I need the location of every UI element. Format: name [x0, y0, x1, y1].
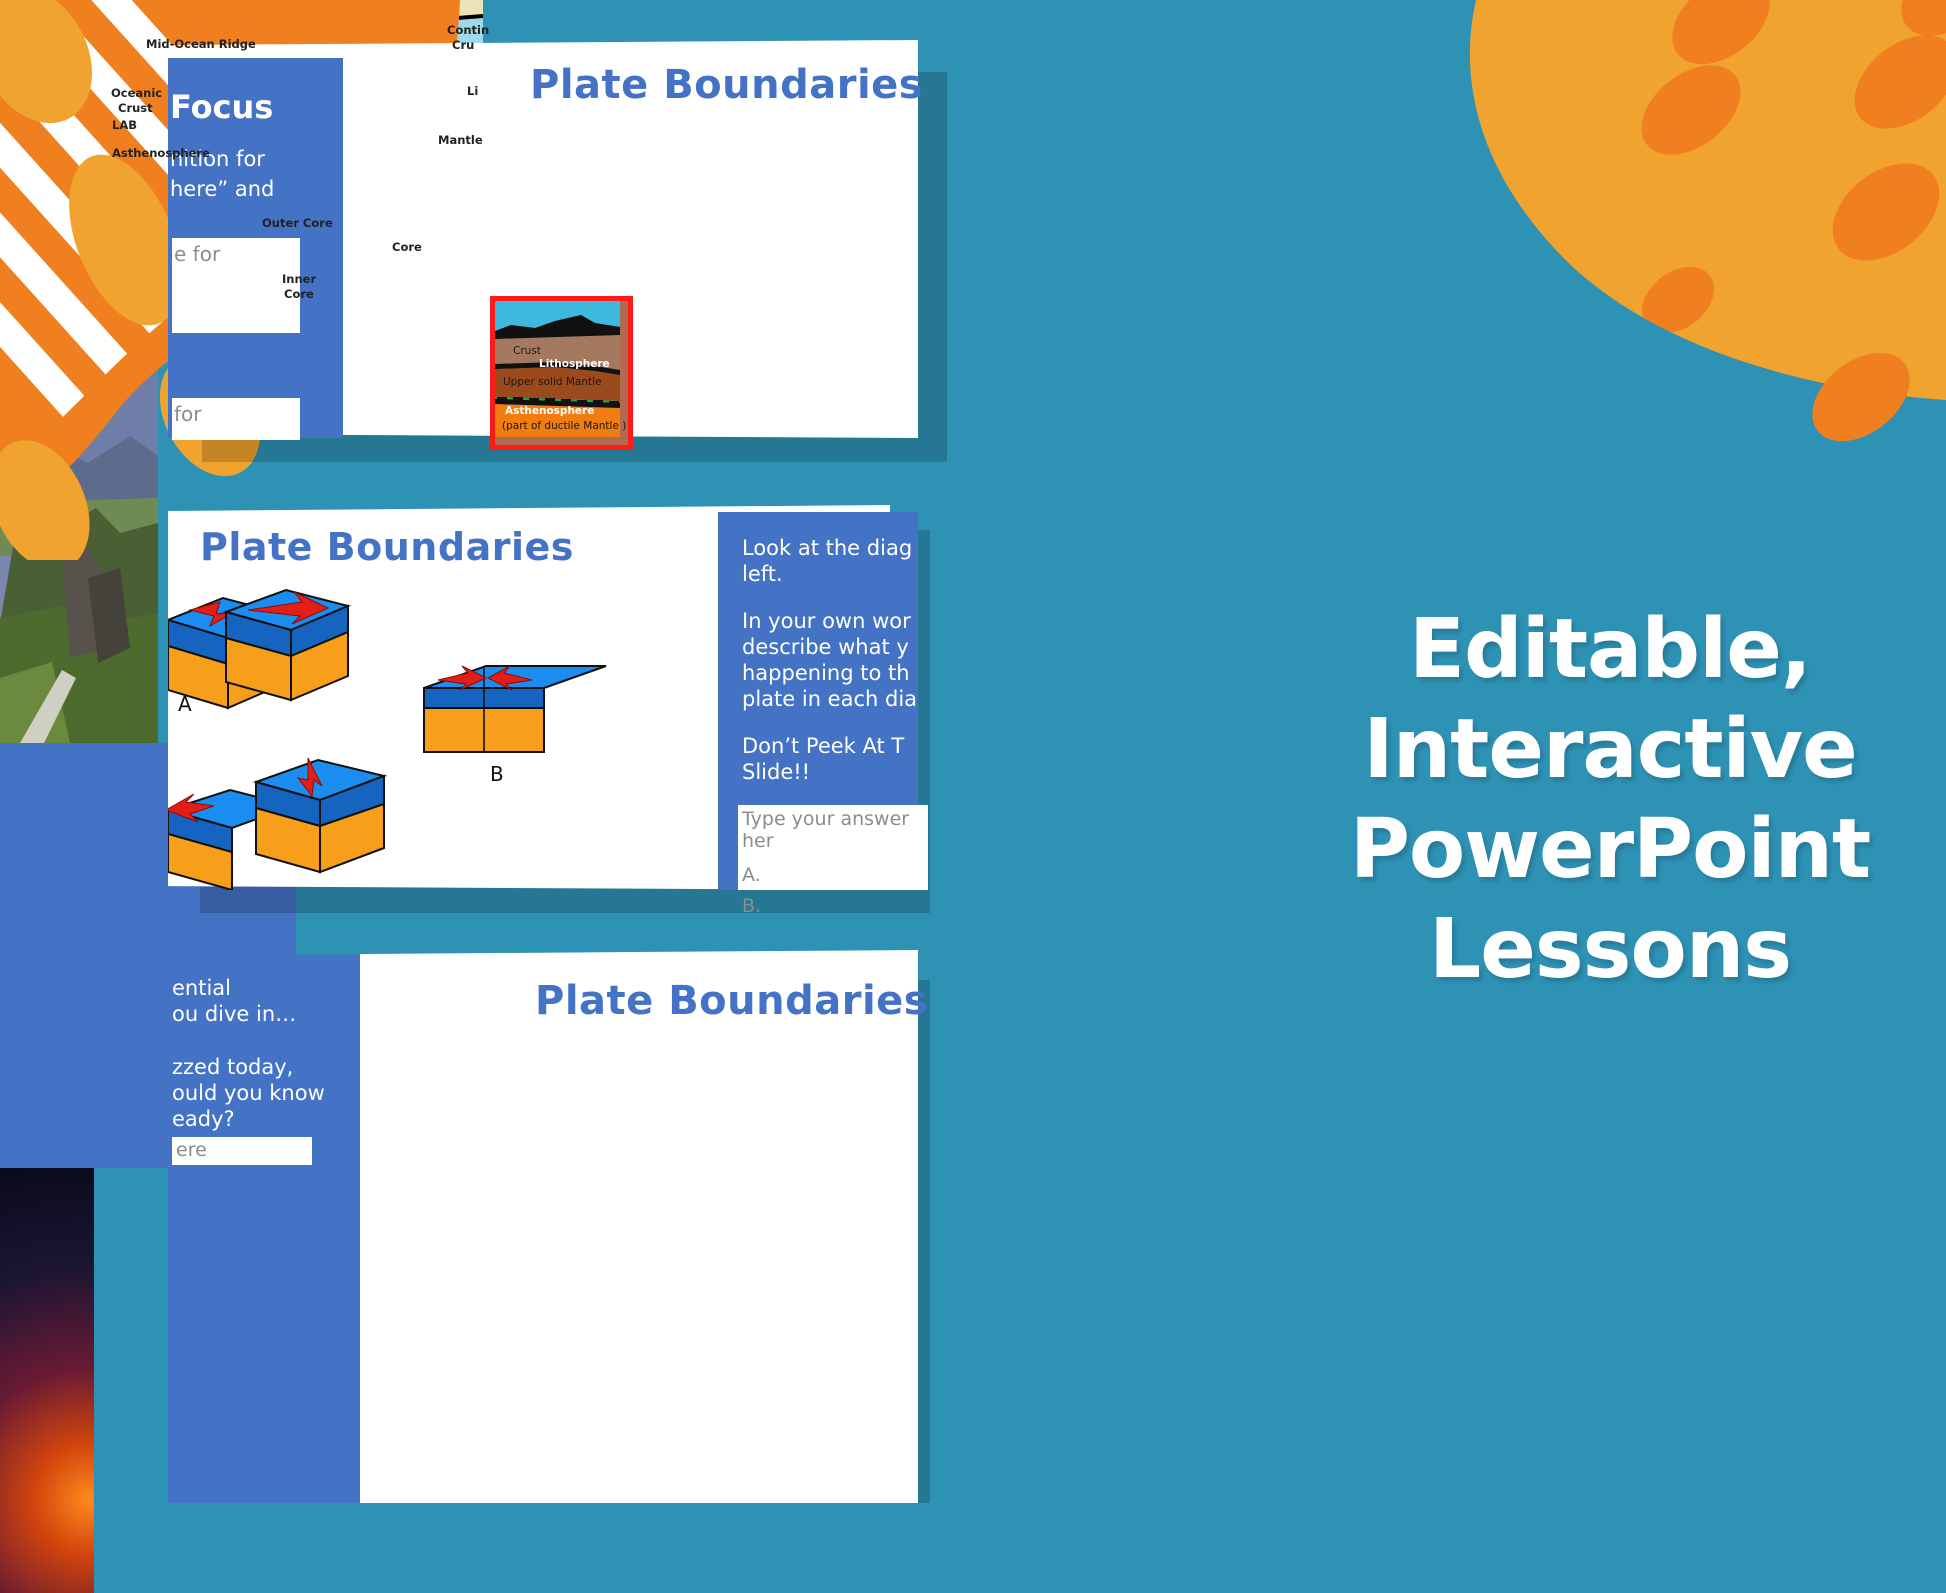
slide-2-text-block-3: Don’t Peek At T Slide!! — [742, 733, 937, 786]
slide-2-text-block-1: Look at the diag left. — [742, 535, 937, 588]
slide-3-text-block-2: zzed today, ould you know eady? — [172, 1054, 362, 1133]
marketing-headline: Editable, Interactive PowerPoint Lessons — [1280, 600, 1940, 1000]
slide-1-answer-box-1[interactable]: e for — [172, 238, 300, 333]
question-number-1: 1. — [540, 1135, 574, 1196]
label-inner-core-line2: Core — [284, 287, 314, 301]
slide-2-text-block-2: In your own wor describe what y happenin… — [742, 608, 937, 713]
deco-tr-svg — [1246, 0, 1946, 460]
inset-label-asthenosphere-note: (part of ductile Mantle ) — [502, 420, 626, 432]
slide-2-answer-item-a: A. — [738, 861, 928, 886]
headline-line-1: Editable, — [1280, 600, 1940, 700]
slide-2-answer-placeholder: Type your answer her — [738, 805, 928, 852]
headline-line-4: Lessons — [1280, 900, 1940, 1000]
question-text-1: What is plate tectonics? — [574, 1135, 822, 1196]
slide-3-answer-placeholder: ere — [172, 1137, 312, 1161]
slide-1-inset-detail: Crust Lithosphere Upper solid Mantle Ast… — [490, 296, 633, 450]
slide-1-answer-box-2[interactable]: for — [172, 398, 300, 440]
inset-label-asthenosphere: Asthenosphere — [505, 405, 594, 417]
label-mantle: Mantle — [438, 133, 483, 147]
slide-2-answer-box[interactable]: Type your answer her A. B. — [738, 805, 928, 890]
inset-label-upper-solid-mantle: Upper solid Mantle — [503, 376, 602, 388]
inset-label-crust: Crust — [513, 345, 541, 357]
headline-line-2: Interactive — [1280, 700, 1940, 800]
label-oceanic-crust-line1: Oceanic — [111, 86, 162, 100]
label-continental-crust-line1: Contin — [447, 23, 489, 37]
label-lithosphere-bracket: Li — [467, 84, 478, 98]
slide-1-answer-placeholder-2: for — [172, 398, 300, 426]
slide-3-title: Plate Boundaries — [535, 978, 928, 1024]
question-number-2: 2. — [540, 1198, 574, 1229]
slide-2-answer-item-b: B. — [738, 892, 928, 917]
label-lab: LAB — [112, 118, 137, 132]
slide-2-caption-b: B — [490, 762, 504, 786]
question-text-2: What are the three — [574, 1198, 821, 1229]
label-oceanic-crust-line2: Crust — [118, 101, 153, 115]
slide-2-plate-diagram-b — [420, 660, 610, 765]
label-asthenosphere: Asthenosphere — [112, 146, 210, 160]
inset-label-lithosphere: Lithosphere — [539, 358, 610, 370]
decoration-top-right — [1246, 0, 1946, 460]
slide-2-right-text: Look at the diag left. In your own wor d… — [742, 535, 937, 785]
slide-1-answer-placeholder-1: e for — [172, 238, 300, 266]
headline-line-3: PowerPoint — [1280, 800, 1940, 900]
slide-3-essential-questions-list: 1. What is plate tectonics? 2. What are … — [540, 1135, 822, 1231]
slide-3-left-text: ential ou dive in… zzed today, ould you … — [172, 975, 362, 1132]
label-inner-core-line1: Inner — [282, 272, 316, 286]
label-continental-crust-line2: Cru — [452, 38, 474, 52]
label-core: Core — [392, 240, 422, 254]
slide-1-panel-heading: Focus — [170, 88, 273, 126]
slide-1-title: Plate Boundaries — [530, 62, 923, 108]
label-outer-core: Outer Core — [262, 216, 333, 230]
slide-3-text-block-1: ential ou dive in… — [172, 975, 362, 1028]
slide-3-planet-photo — [0, 1168, 94, 1593]
essential-question-item: 1. What is plate tectonics? — [540, 1135, 822, 1196]
essential-question-item: 2. What are the three — [540, 1198, 822, 1229]
slide-3-essential-questions-heading: Essential Questions: — [540, 1092, 803, 1122]
slide-3-answer-box[interactable]: ere — [172, 1137, 312, 1165]
slide-2-title: Plate Boundaries — [200, 525, 574, 569]
slide-2-caption-a: A — [178, 692, 192, 716]
label-mid-ocean-ridge: Mid-Ocean Ridge — [146, 37, 256, 51]
